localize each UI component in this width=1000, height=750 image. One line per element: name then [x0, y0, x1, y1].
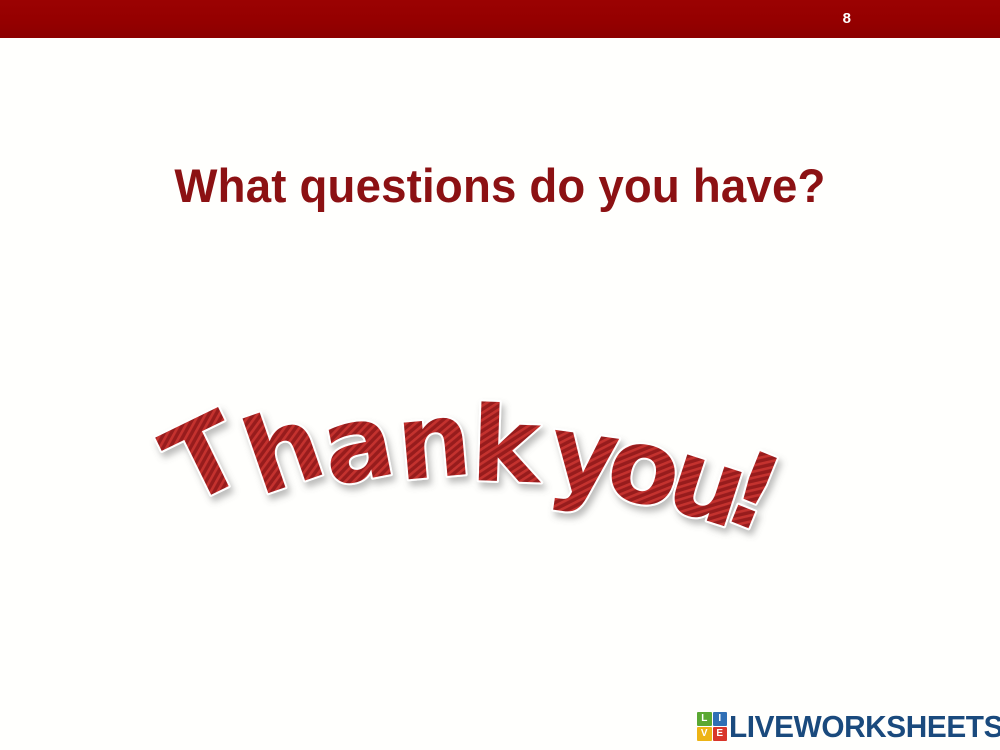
- page-number: 8: [843, 11, 851, 27]
- logo-wordmark: LIVEWORKSHEETS: [729, 711, 1000, 742]
- logo-block-l: L: [697, 712, 712, 726]
- logo-block-e: E: [713, 727, 728, 741]
- top-banner: 8: [0, 0, 1000, 38]
- page-title: What questions do you have?: [15, 158, 985, 213]
- wordart-letter-k: k: [469, 383, 545, 507]
- slide-canvas: 8 What questions do you have? T h a n k: [0, 0, 1000, 750]
- logo-block-i: I: [713, 712, 728, 726]
- logo-block-v: V: [697, 727, 712, 741]
- thank-you-wordart: T h a n k y o u !: [178, 388, 748, 528]
- wordart-letter-n: n: [392, 377, 476, 505]
- logo-blocks-icon: L I V E: [697, 712, 727, 741]
- liveworksheets-logo[interactable]: L I V E LIVEWORKSHEETS: [697, 707, 993, 745]
